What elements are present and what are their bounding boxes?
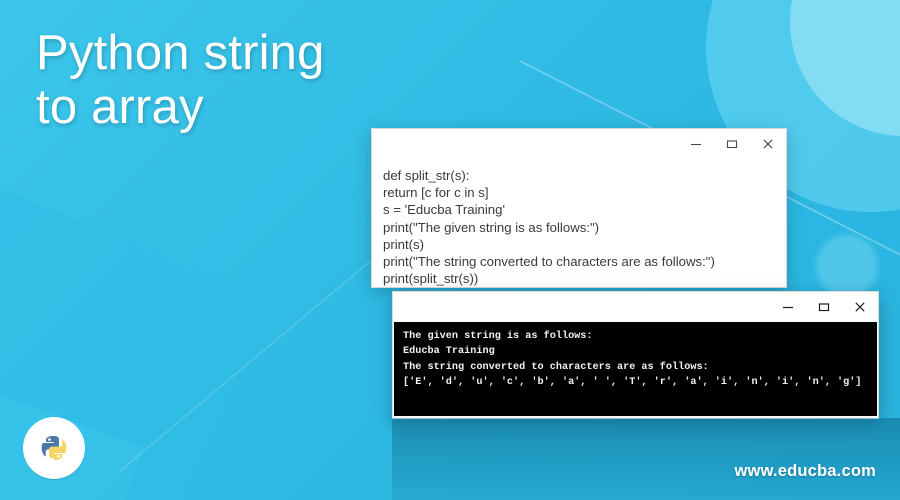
- editor-titlebar[interactable]: [372, 129, 786, 159]
- site-url-label: www.educba.com: [734, 462, 876, 481]
- console-output[interactable]: The given string is as follows: Educba T…: [394, 322, 877, 416]
- page-title: Python string to array: [36, 26, 466, 134]
- desk-reflection-edge: [392, 417, 879, 419]
- python-logo-icon: [18, 412, 90, 484]
- desk-reflection: [392, 418, 900, 500]
- code-text[interactable]: def split_str(s): return [c for c in s] …: [372, 159, 786, 287]
- close-icon[interactable]: [750, 130, 786, 158]
- decorative-circle-soft: [816, 235, 878, 297]
- code-editor-window[interactable]: def split_str(s): return [c for c in s] …: [371, 128, 787, 288]
- console-window[interactable]: The given string is as follows: Educba T…: [392, 291, 879, 418]
- close-icon[interactable]: [842, 293, 878, 321]
- console-titlebar[interactable]: [393, 292, 878, 322]
- maximize-icon[interactable]: [714, 130, 750, 158]
- maximize-icon[interactable]: [806, 293, 842, 321]
- minimize-icon[interactable]: [678, 130, 714, 158]
- minimize-icon[interactable]: [770, 293, 806, 321]
- slide-canvas: Python string to array def split_str(s):…: [0, 0, 900, 500]
